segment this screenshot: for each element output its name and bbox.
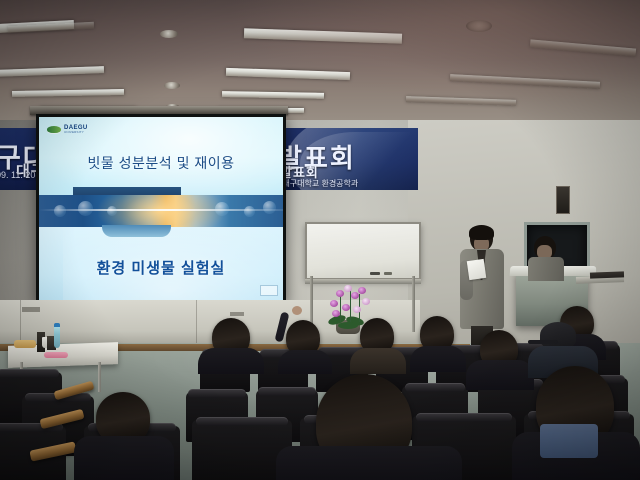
university-logo: DAEGU UNIVERSITY [47,122,109,137]
bottle-cap [54,323,60,327]
audience-jeans [540,424,598,458]
ceiling-light-fixture [406,96,516,106]
presenter-notes [467,259,486,280]
downlight-icon [164,82,180,89]
audience-shoulders-foreground [276,446,462,480]
audience-shoulders [466,360,534,390]
ceiling-light-fixture [450,74,600,89]
wall-speaker [556,186,570,214]
slide-graphic-step-lower [102,225,170,237]
whiteboard [305,222,421,280]
photo-scene: 구대 대구 09. 11. 20(금 발표회 발표회 : 대구대학교 환경공학과… [0,0,640,480]
table-leg [98,362,101,392]
whiteboard-leg [412,276,415,332]
person-at-podium [528,236,564,278]
audience-hand [292,306,302,315]
ceiling-light-fixture [8,22,94,33]
logo-secondary-text: UNIVERSITY [64,131,88,134]
audience-shoulders [278,350,332,374]
downlight-icon [160,30,178,38]
ceiling-light-fixture [222,91,324,99]
audience-shoulders [350,348,406,374]
slide-corner-mark [260,285,278,296]
presentation-slide: DAEGU UNIVERSITY 빗물 성분분석 및 재이용 환경 미생물 실험… [39,117,283,301]
ceiling-light-fixture [12,89,124,97]
ceiling-light-fixture [0,20,74,33]
audience-shoulders [198,348,264,374]
presenter-standing [458,226,506,338]
whiteboard-marker [370,272,380,275]
audience-cap-hat [540,322,576,348]
ceiling-vent [466,20,492,32]
slide-subtitle: 환경 미생물 실험실 [39,257,283,278]
pink-item [44,352,68,358]
ceiling-light-fixture [244,28,402,44]
audience-shoulders [74,436,174,480]
water-bottle [54,326,60,348]
ceiling-light-fixture [530,39,636,56]
slide-graphic-bubbles [39,197,283,225]
podium-book [590,271,624,278]
whiteboard-eraser [384,272,392,275]
logo-emblem-icon [47,126,61,133]
audience-shoulders [410,346,466,372]
cap-brim [528,340,558,344]
projection-screen: DAEGU UNIVERSITY 빗물 성분분석 및 재이용 환경 미생물 실험… [36,114,286,304]
slide-title: 빗물 성분분석 및 재이용 [39,153,283,173]
ceiling-light-fixture [0,66,104,77]
snack-tray [14,340,36,348]
ceiling-light-fixture [226,68,350,80]
banner-department: : 대구대학교 환경공학과 [278,178,358,189]
